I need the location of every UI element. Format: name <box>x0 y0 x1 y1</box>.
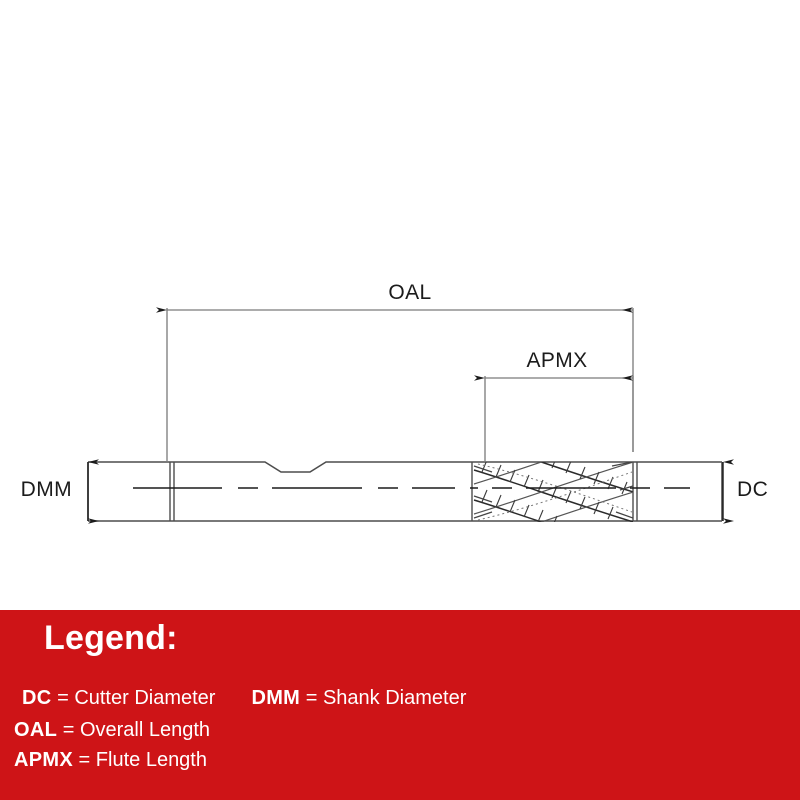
legend-equals-sign: = <box>306 687 318 709</box>
dimension-dc: DC <box>723 462 768 521</box>
legend-code: OAL <box>14 719 57 741</box>
legend-code: DMM <box>251 687 300 709</box>
end-mill-drawing: OAL APMX DMM DC <box>0 0 800 610</box>
legend-description: Cutter Diameter <box>74 687 215 709</box>
legend-entry-apmx: APMX = Flute Length <box>14 746 207 774</box>
legend-entry-oal: OAL = Overall Length <box>14 716 210 744</box>
legend-code: APMX <box>14 749 73 771</box>
flute-helix-detail <box>474 430 640 554</box>
legend-title: Legend: <box>44 616 178 660</box>
technical-drawing-area: OAL APMX DMM DC <box>0 0 800 610</box>
legend-equals-sign: = <box>57 687 69 709</box>
dimension-label-oal: OAL <box>388 281 431 304</box>
legend-row: DC = Cutter Diameter DMM = Shank Diamete… <box>22 684 466 712</box>
legend-equals-sign: = <box>79 749 91 771</box>
legend-entry-dc: DC = Cutter Diameter <box>22 684 215 712</box>
dimension-apmx: APMX <box>485 349 633 462</box>
tool-body-outline <box>88 462 722 521</box>
legend-entry-dmm: DMM = Shank Diameter <box>251 684 466 712</box>
legend-description: Overall Length <box>80 719 210 741</box>
legend-row: OAL = Overall Length <box>14 716 210 744</box>
dimension-dmm: DMM <box>21 462 88 521</box>
legend-banner: Legend: DC = Cutter Diameter DMM = Shank… <box>0 610 800 800</box>
legend-equals-sign: = <box>63 719 75 741</box>
legend-description: Shank Diameter <box>323 687 466 709</box>
dimension-label-dc: DC <box>737 478 768 501</box>
legend-code: DC <box>22 687 52 709</box>
dimension-label-apmx: APMX <box>526 349 587 372</box>
legend-description: Flute Length <box>96 749 207 771</box>
legend-row: APMX = Flute Length <box>14 746 207 774</box>
dimension-label-dmm: DMM <box>21 478 72 501</box>
